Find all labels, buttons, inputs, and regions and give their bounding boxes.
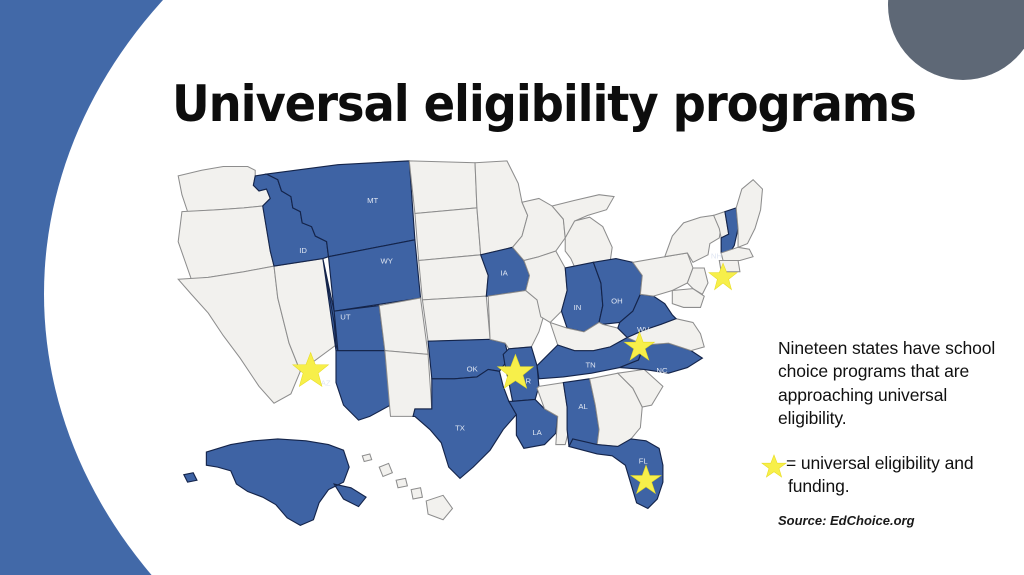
description-text: Nineteen states have school choice progr…: [778, 337, 1010, 430]
source-note: Source: EdChoice.org: [778, 513, 1010, 528]
state-label-NH: NH: [711, 252, 722, 261]
slide: Universal eligibility programs: [0, 0, 1024, 575]
state-ME[interactable]: [736, 180, 762, 248]
state-AK[interactable]: [184, 439, 366, 525]
state-SD[interactable]: [415, 208, 481, 261]
state-KS[interactable]: [422, 296, 490, 341]
side-copy-block: Nineteen states have school choice progr…: [778, 337, 1010, 528]
state-NM[interactable]: [385, 351, 432, 417]
state-AZ[interactable]: [336, 351, 390, 421]
state-shapes: [178, 161, 762, 525]
legend: = universal eligibility and funding.: [778, 452, 1010, 499]
legend-label: = universal eligibility and funding.: [778, 452, 1010, 499]
state-label-AZ: AZ: [321, 378, 331, 387]
us-map[interactable]: MT ID WY UT AZ OK TX AR LA IA IN OH WV T…: [150, 140, 770, 550]
state-NY[interactable]: [665, 215, 721, 262]
state-HI[interactable]: [362, 454, 452, 520]
page-title: Universal eligibility programs: [172, 78, 916, 131]
state-CO[interactable]: [379, 298, 428, 354]
state-ND[interactable]: [409, 161, 477, 214]
state-NE[interactable]: [419, 255, 489, 300]
state-OR[interactable]: [178, 206, 274, 279]
star-icon-legend: [761, 453, 787, 479]
